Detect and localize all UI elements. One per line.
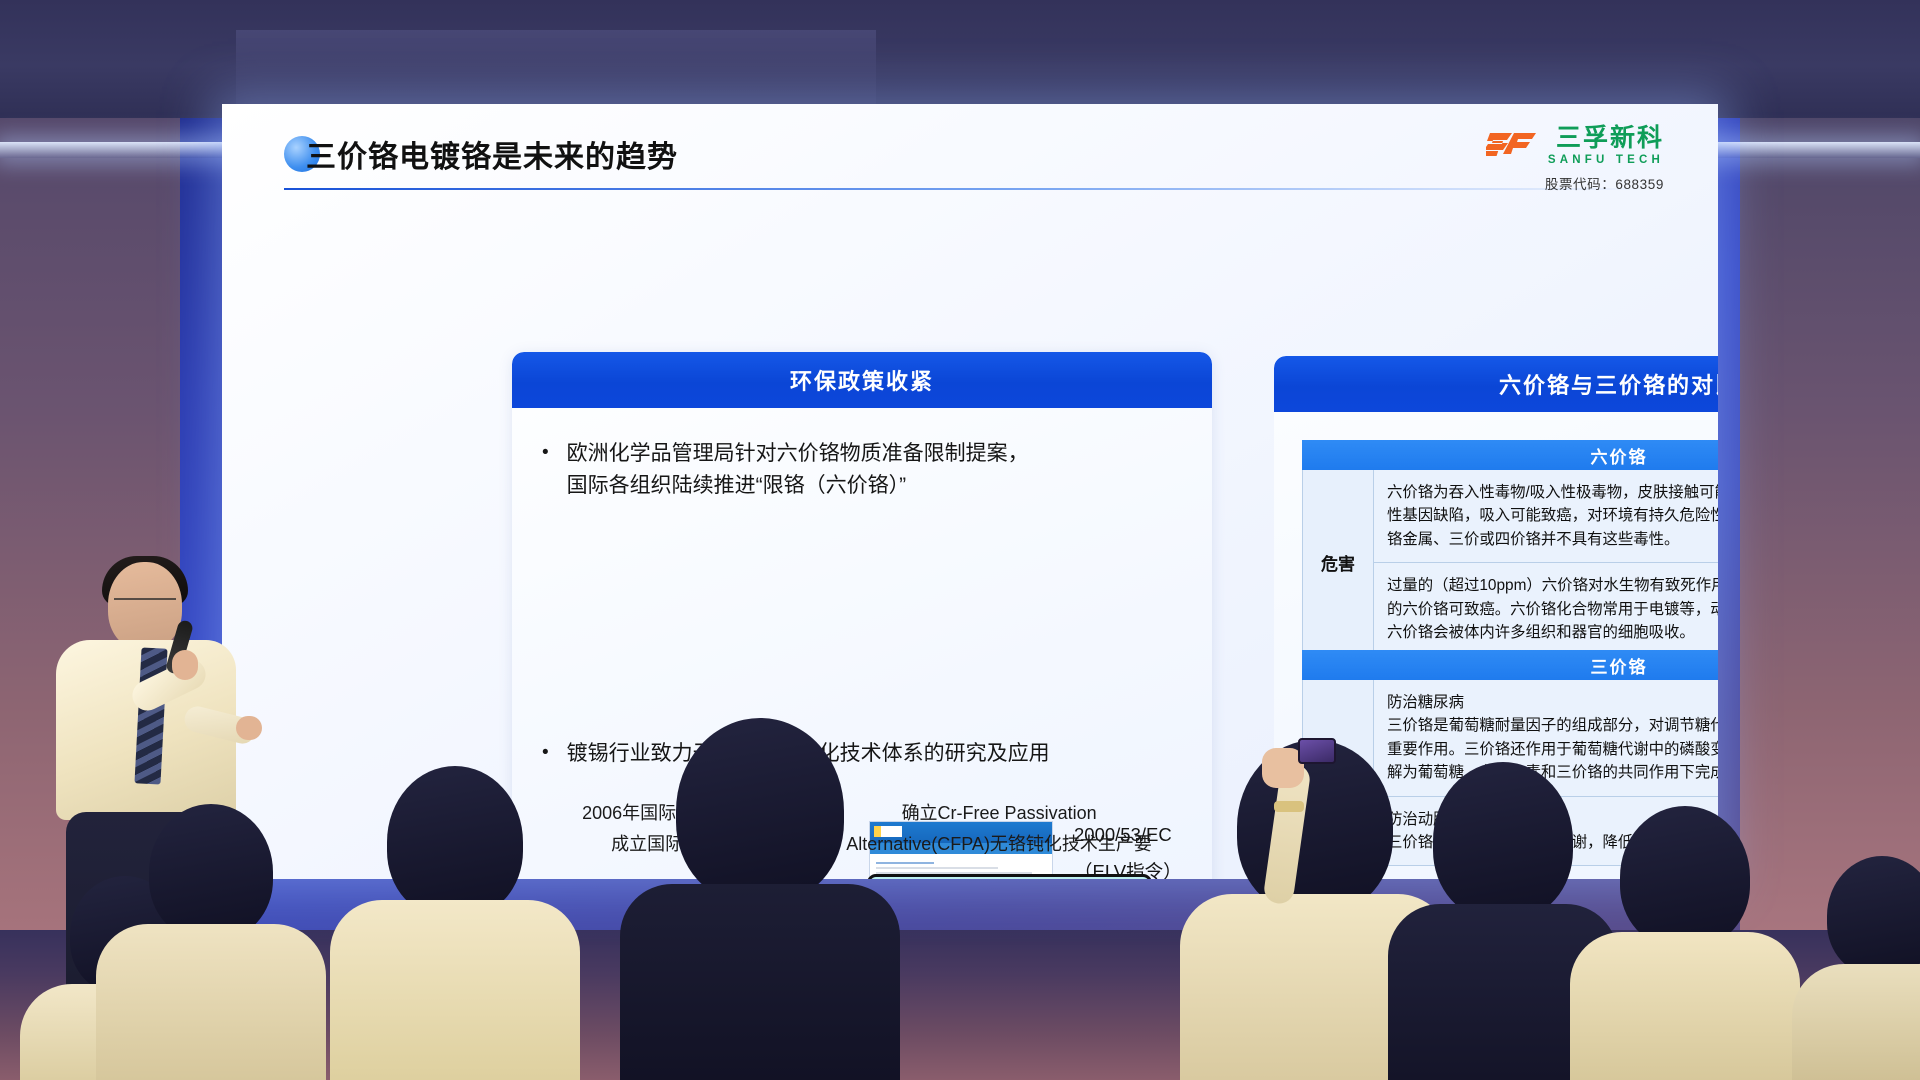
audience-shoulders	[620, 884, 900, 1080]
brand-name-cn: 三孚新科	[1548, 126, 1664, 151]
audience-shoulders	[96, 924, 326, 1080]
audience-head	[387, 766, 523, 918]
audience-member	[1570, 830, 1800, 1080]
stock-code: 股票代码：688359	[1486, 173, 1664, 193]
conference-hall-scene: 三价铬电镀铬是未来的趋势 三孚新科 SANFU TECH	[0, 0, 1920, 1080]
table-row: 六价铬为吞入性毒物/吸入性极毒物，皮肤接触可能导致过敏；更可能造成遗传性基因缺陷…	[1374, 470, 1718, 562]
audience-member	[96, 830, 326, 1080]
presenter-hand-right	[236, 716, 262, 740]
new-passivation-requirements-box: 新的钝化要求： 符合有害物质限制（RoHS）限制 耐蚀能不低于Cr（VI）的技术…	[867, 874, 1152, 879]
bullet-1-line-1: 欧洲化学品管理局针对六价铬物质准备限制提案，	[567, 442, 1029, 465]
slide-title-wrap: 三价铬电镀铬是未来的趋势	[284, 132, 678, 176]
wristwatch	[1274, 801, 1304, 812]
slide-header: 三价铬电镀铬是未来的趋势 三孚新科 SANFU TECH	[222, 104, 1718, 200]
bullet-dot-icon: •	[542, 438, 549, 502]
presenter-hand-left	[172, 650, 198, 680]
sanfu-sf-mark-icon	[1486, 127, 1538, 166]
audience-shoulders	[1792, 964, 1920, 1080]
audience-member	[620, 750, 900, 1080]
smartphone-icon	[1298, 738, 1336, 764]
panel-left-header: 环保政策收紧	[512, 352, 1212, 408]
audience-member	[330, 790, 580, 1080]
bullet-dot-icon: •	[542, 738, 549, 770]
table-cells: 六价铬为吞入性毒物/吸入性极毒物，皮肤接触可能导致过敏；更可能造成遗传性基因缺陷…	[1374, 470, 1718, 655]
bullet-1-line-2: 国际各组织陆续推进“限铬（六价铬）”	[567, 474, 907, 497]
audience-head	[1620, 806, 1750, 948]
title-underline	[284, 188, 1654, 190]
audience-member	[1792, 880, 1920, 1080]
audience-shoulders	[1570, 932, 1800, 1080]
row-key-harm: 危害	[1303, 470, 1374, 655]
brand-name-en: SANFU TECH	[1548, 154, 1664, 166]
bullet-item-1: • 欧洲化学品管理局针对六价铬物质准备限制提案， 国际各组织陆续推进“限铬（六价…	[542, 438, 1182, 502]
section-title-hexavalent: 六价铬	[1302, 440, 1718, 470]
audience-head	[1433, 762, 1573, 920]
audience-head	[149, 804, 273, 940]
comparison-section-hexavalent: 六价铬 危害 六价铬为吞入性毒物/吸入性极毒物，皮肤接触可能导致过敏；更可能造成…	[1302, 440, 1718, 656]
table-row: 过量的（超过10ppm）六价铬对水生物有致死作用。实验显示受污染饮用水中的六价铬…	[1374, 562, 1718, 655]
brand-logo: 三孚新科 SANFU TECH 股票代码：688359	[1486, 126, 1664, 193]
audience-shoulders	[330, 900, 580, 1080]
panel-right-header: 六价铬与三价铬的对比	[1274, 356, 1718, 412]
audience-head	[676, 718, 844, 904]
audience-head	[1827, 856, 1920, 976]
audience-head	[1237, 740, 1393, 914]
table-hexavalent: 危害 六价铬为吞入性毒物/吸入性极毒物，皮肤接触可能导致过敏；更可能造成遗传性基…	[1302, 470, 1718, 656]
section-title-trivalent: 三价铬	[1302, 650, 1718, 680]
presenter-glasses	[114, 598, 176, 613]
page-title: 三价铬电镀铬是未来的趋势	[306, 132, 678, 176]
